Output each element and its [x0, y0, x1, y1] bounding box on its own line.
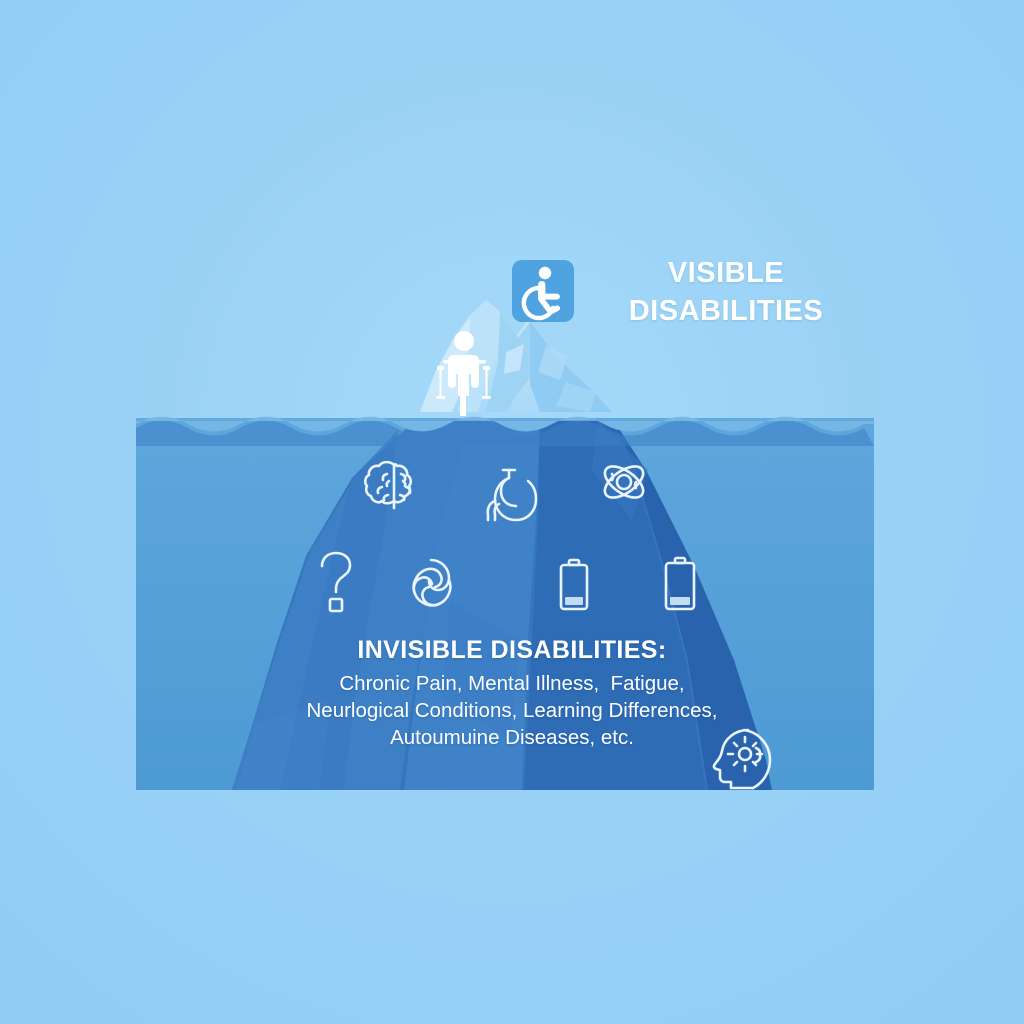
visible-title-line1: VISIBLE [596, 254, 856, 292]
waterline-waves [136, 417, 874, 447]
wheelchair-icon [512, 260, 574, 322]
infographic-canvas: VISIBLE DISABILITIES INVISIBLE DISABILIT… [0, 0, 1024, 1024]
invisible-disabilities-block: INVISIBLE DISABILITIES: Chronic Pain, Me… [212, 634, 812, 751]
iceberg-scene [0, 0, 1024, 1024]
invisible-disabilities-heading: INVISIBLE DISABILITIES: [212, 634, 812, 666]
invisible-disabilities-list: Chronic Pain, Mental Illness, Fatigue, N… [212, 670, 812, 751]
invisible-list-line-1: Chronic Pain, Mental Illness, Fatigue, [212, 670, 812, 697]
visible-disabilities-badge[interactable] [512, 260, 574, 322]
visible-title-line2: DISABILITIES [596, 292, 856, 330]
visible-disabilities-title: VISIBLE DISABILITIES [596, 254, 856, 330]
invisible-list-line-3: Autoumuine Diseases, etc. [212, 724, 812, 751]
invisible-list-line-2: Neurlogical Conditions, Learning Differe… [212, 697, 812, 724]
